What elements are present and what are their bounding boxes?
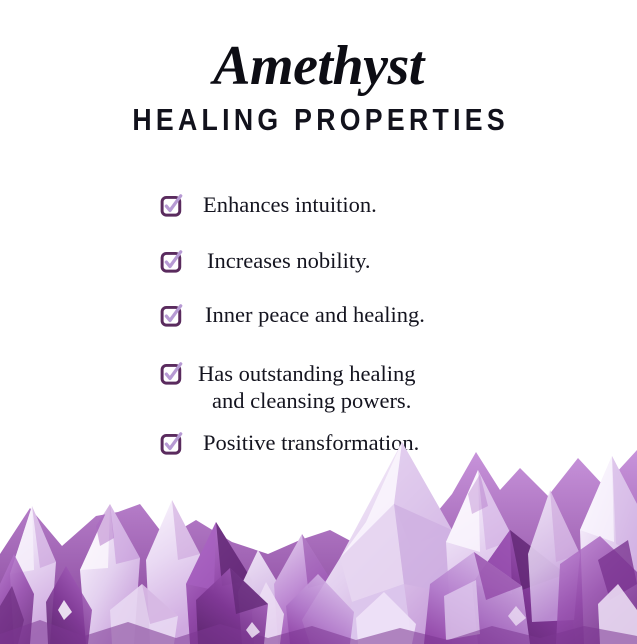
list-item: Enhances intuition. [160,192,377,218]
page-subtitle: HEALING PROPERTIES [45,96,593,137]
list-item-label: Enhances intuition. [183,192,377,218]
checkbox-checked-icon [160,304,183,327]
amethyst-crystal-cluster [0,434,637,644]
list-item-label: Inner peace and healing. [183,302,425,328]
list-item-label-line1: Has outstanding healing [198,361,415,386]
list-item: Has outstanding healingand cleansing pow… [160,360,415,414]
list-item-label: Increases nobility. [183,248,371,274]
checkbox-checked-icon [160,362,183,385]
poster-header: Amethyst HEALING PROPERTIES [0,0,637,137]
amethyst-healing-properties-poster: Amethyst HEALING PROPERTIES Enhances int… [0,0,637,644]
list-item: Inner peace and healing. [160,302,425,328]
checkbox-checked-icon [160,194,183,217]
list-item: Increases nobility. [160,248,371,274]
page-title: Amethyst [0,0,637,96]
list-item-label-multiline: Has outstanding healingand cleansing pow… [183,360,415,414]
crystal-cluster-svg [0,434,637,644]
list-item-label-line2: and cleansing powers. [198,387,415,414]
checkbox-checked-icon [160,250,183,273]
